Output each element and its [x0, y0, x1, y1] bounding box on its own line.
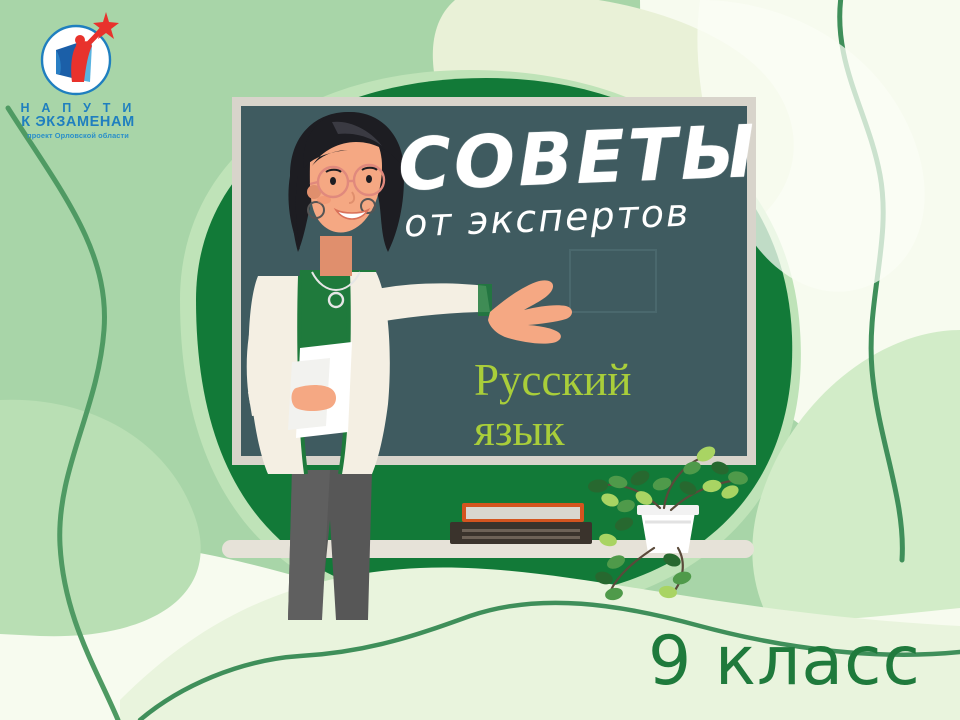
logo-emblem-icon — [30, 10, 126, 100]
potted-plant — [587, 443, 749, 601]
book-top-pages — [466, 507, 580, 519]
teacher-trouser-leg-left — [288, 470, 330, 620]
logo-text-line-1: Н А П У Т И — [14, 101, 142, 115]
teacher-neck — [320, 236, 352, 276]
book-bottom — [450, 522, 592, 544]
teacher-left-forearm — [248, 388, 282, 416]
book-stack — [450, 503, 592, 544]
teacher-eye-right — [366, 175, 372, 183]
board-title: СОВЕТЫ — [397, 109, 760, 207]
project-logo[interactable]: Н А П У Т И К ЭКЗАМЕНАМ проект Орловской… — [14, 10, 142, 141]
teacher-eye-left — [330, 177, 336, 185]
teacher-cheek — [317, 196, 331, 204]
book-bottom-page-line-1 — [462, 529, 580, 532]
grade-label: 9 класс — [648, 622, 921, 701]
presentation-slide: Н А П У Т И К ЭКЗАМЕНАМ проект Орловской… — [0, 0, 960, 720]
logo-text-line-3: проект Орловской области — [14, 132, 142, 141]
subject-name-line-2: язык — [474, 404, 565, 456]
book-bottom-page-line-2 — [462, 536, 580, 539]
plant-pot-rim — [637, 505, 699, 515]
subject-name-line-1: Русский — [474, 354, 632, 406]
logo-text-line-2: К ЭКЗАМЕНАМ — [14, 115, 142, 131]
plant-pot — [641, 512, 695, 553]
teacher-left-hand — [292, 385, 337, 411]
teacher-right-cuff-trim — [478, 284, 492, 316]
